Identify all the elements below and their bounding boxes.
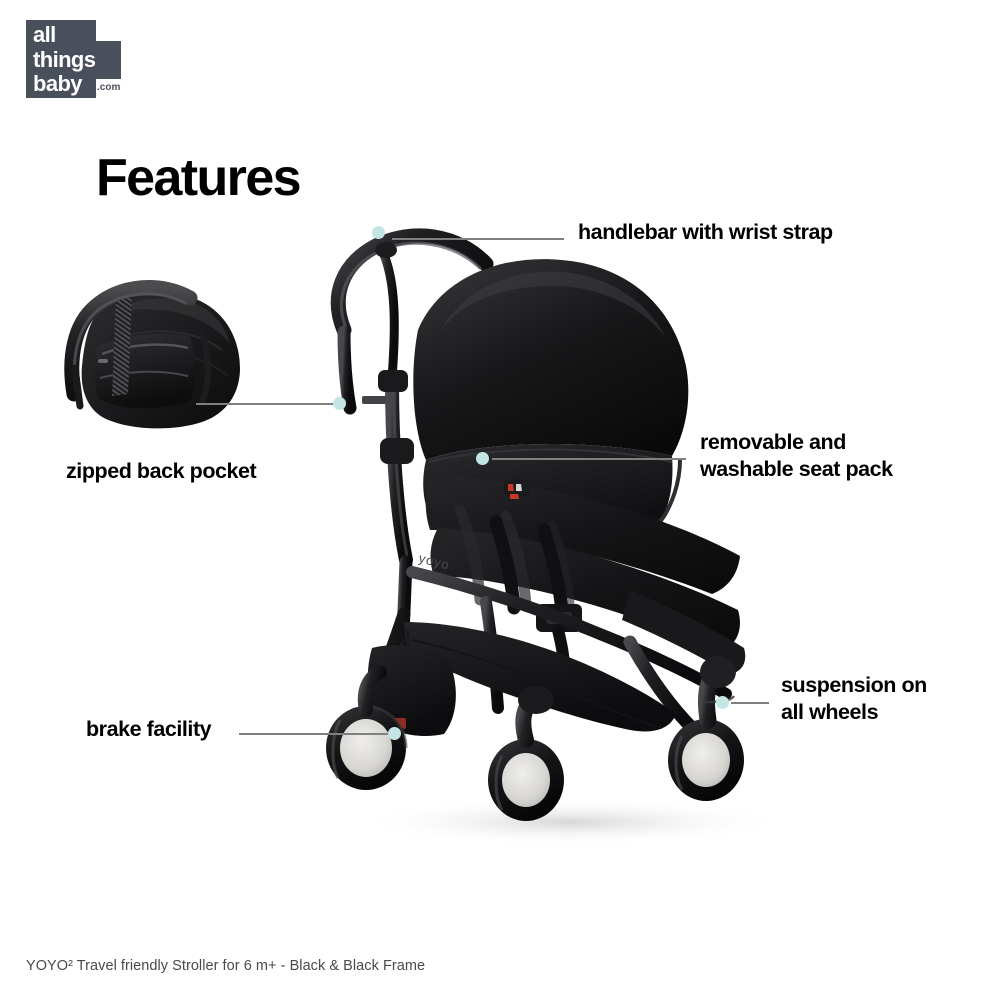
page-title: Features xyxy=(96,148,300,208)
front-left-wheel xyxy=(488,739,564,821)
callout-dot-brake-facility xyxy=(388,727,401,740)
callout-dot-handlebar xyxy=(372,226,385,239)
leader-line-brake-facility xyxy=(239,733,391,735)
front-right-wheel xyxy=(668,719,744,801)
yoyo2-stroller-image: yoyo xyxy=(300,210,800,850)
zipped-back-pocket-closeup-image xyxy=(50,272,255,432)
leader-line-handlebar xyxy=(392,238,564,240)
callout-label-suspension: suspension on all wheels xyxy=(781,672,927,726)
callout-label-zipped-back-pocket: zipped back pocket xyxy=(66,458,256,485)
logo-line-all: all xyxy=(33,23,133,48)
callout-label-brake-facility: brake facility xyxy=(86,716,211,743)
callout-dot-suspension xyxy=(716,696,729,709)
callout-dot-zipped-back-pocket xyxy=(333,397,346,410)
logo-line-things: things xyxy=(33,48,133,73)
callout-dot-seat-pack xyxy=(476,452,489,465)
product-caption: YOYO² Travel friendly Stroller for 6 m+ … xyxy=(26,958,425,974)
leader-line-seat-pack xyxy=(492,458,686,460)
leader-line-zipped-back-pocket xyxy=(196,403,338,405)
rear-wheel xyxy=(326,706,406,790)
brand-logo[interactable]: all things baby ™ .com xyxy=(26,20,126,98)
leader-line-suspension xyxy=(731,702,769,704)
logo-dotcom: .com xyxy=(97,82,120,93)
trademark-icon: ™ xyxy=(89,21,96,28)
